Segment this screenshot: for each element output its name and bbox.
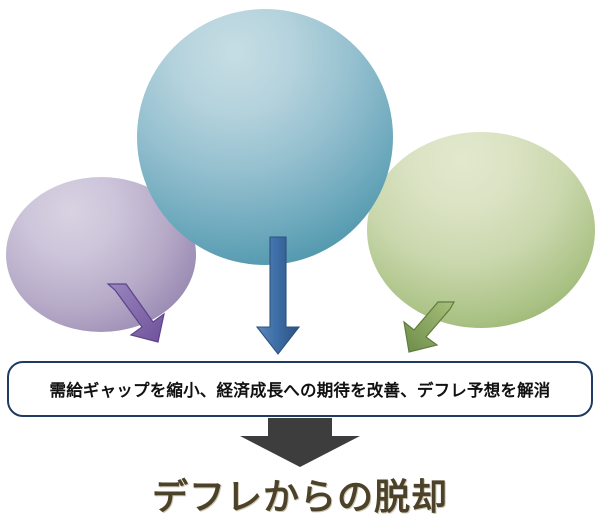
- outcome-banner: 需給ギャップを縮小、経済成長への期待を改善、デフレ予想を解消: [7, 361, 593, 417]
- arrow-down-thick-icon: [238, 418, 362, 468]
- arrow-down-left-icon: [400, 300, 462, 356]
- circle-people: [367, 132, 595, 328]
- outcome-banner-text: 需給ギャップを縮小、経済成長への期待を改善、デフレ予想を解消: [50, 377, 551, 401]
- arrow-down-icon: [255, 235, 301, 357]
- circle-things: [137, 9, 393, 265]
- page-title: デフレからの脱却: [0, 468, 600, 520]
- diagram-canvas: お金を動かす ・民間のお金の流れを 活性化 モノを動かす ・「広くて、耐震、エコ…: [0, 0, 600, 522]
- arrow-down-right-icon: [100, 282, 170, 344]
